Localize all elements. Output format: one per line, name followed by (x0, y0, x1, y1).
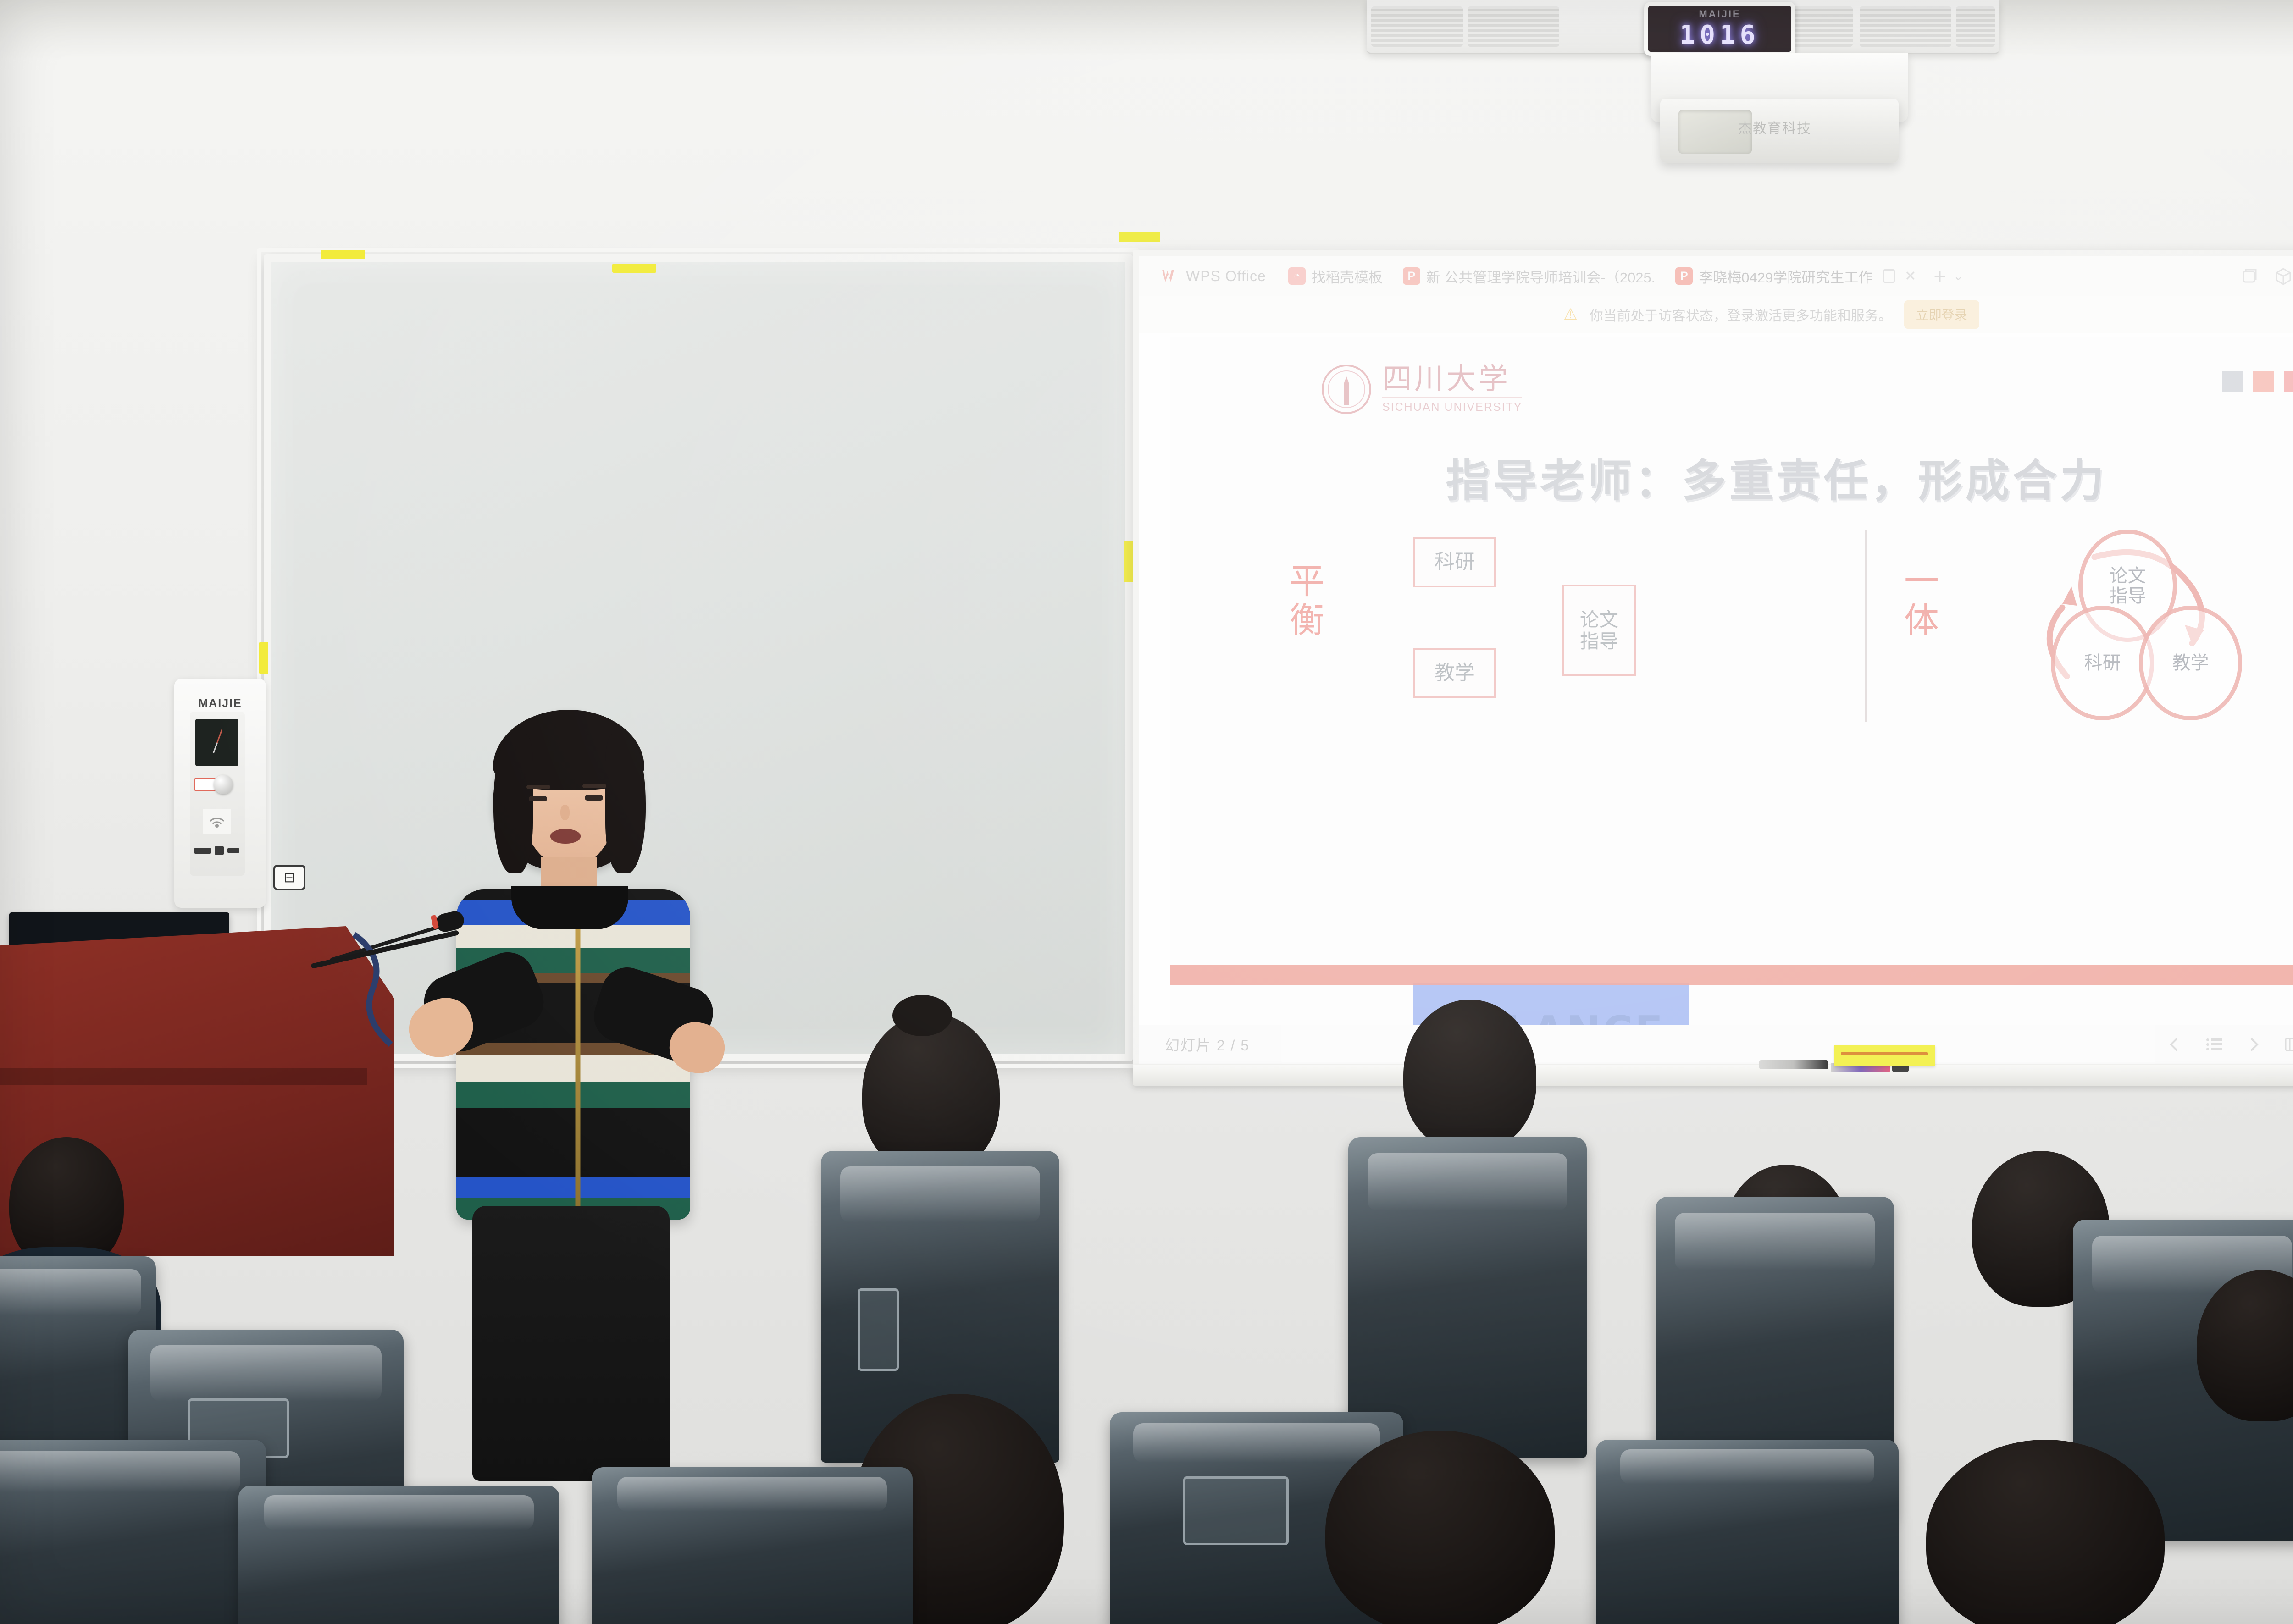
close-icon[interactable]: ✕ (1905, 268, 1916, 284)
presenter-nose (560, 805, 570, 820)
projection-screen: WPS Office ◔ 找稻壳模板 P 新 公共管理学院导师培训会-（2025… (1133, 250, 2293, 1071)
ppt-icon: P (1675, 267, 1693, 285)
presenter-eye (529, 796, 547, 801)
wps-tab-label: 李晓梅0429学院研究生工作 (1699, 266, 1872, 287)
ppt-icon: P (1403, 267, 1420, 285)
chevron-down-icon[interactable]: ⌄ (1953, 269, 1963, 283)
board-clip (1124, 541, 1134, 582)
seat (0, 1440, 266, 1624)
presenter-brow (526, 785, 550, 789)
audience-head (1403, 1000, 1536, 1151)
box-teaching: 教学 (1413, 648, 1496, 698)
swatch (2253, 371, 2274, 392)
slide-content: 四川大学 SICHUAN UNIVERSITY 指导老师：多重责任，形成合力 (1170, 337, 2293, 1025)
ceiling-clock: MAIJIE 1016 (1644, 2, 1795, 56)
slide-color-swatches (2222, 371, 2293, 392)
notice-login-button[interactable]: 立即登录 (1904, 300, 1979, 329)
circle-teaching: 教学 (2139, 606, 2242, 720)
box-thesis-guidance: 论文 指导 (1562, 585, 1636, 676)
wps-tab-ppt-2-active[interactable]: P 李晓梅0429学院研究生工作 ✕ (1665, 256, 1926, 296)
audience-head (1325, 1431, 1555, 1624)
university-name-cn: 四川大学 (1382, 365, 1522, 394)
swatch (2222, 371, 2243, 392)
window-icon[interactable] (2240, 267, 2259, 285)
sichuan-university-logo: 四川大学 SICHUAN UNIVERSITY (1322, 365, 1522, 414)
power-button[interactable]: ⊟ (273, 865, 305, 890)
swatch (2284, 371, 2293, 392)
wall-control-panel[interactable]: MAIJIE (174, 679, 266, 908)
board-clip (1119, 232, 1160, 242)
wps-logo-icon (1161, 268, 1180, 284)
right-panel-heading: 一体 (1904, 562, 1945, 640)
presenter-eye (585, 795, 603, 801)
presenter-mouth (550, 829, 581, 844)
guest-notice-text: 你当前处于访客状态，登录激活更多功能和服务。 (1590, 304, 1892, 325)
slide-title: 指导老师：多重责任，形成合力 (1170, 445, 2293, 509)
clock-time-display: 1016 (1680, 20, 1760, 50)
wps-app-name: WPS Office (1186, 268, 1266, 285)
panel-label-sticker (194, 778, 216, 791)
slide-left-panel: 平衡 科研 教学 论文 指导 BALANCE (1262, 525, 1854, 988)
left-panel-heading: 平衡 (1290, 562, 1331, 640)
warning-icon: ⚠ (1563, 305, 1577, 324)
classroom-scene: MAIJIE 1016 杰教育科技 WPS Office ◔ 找稻壳模板 (0, 0, 2293, 1624)
slide-right-panel: 一体 论文 指导 科研 教学 (1886, 525, 2293, 988)
panel-ports[interactable] (194, 845, 240, 856)
box-label-line-2: 指导 (1580, 630, 1618, 652)
seat-tablet-arm (1183, 1476, 1289, 1545)
wps-tab-bar: WPS Office ◔ 找稻壳模板 P 新 公共管理学院导师培训会-（2025… (1139, 256, 2293, 296)
guest-notice-bar: ⚠ 你当前处于访客状态，登录激活更多功能和服务。 立即登录 (1139, 296, 2293, 333)
wps-tab-label: 新 公共管理学院导师培训会-（2025. (1426, 266, 1656, 287)
box-label-line-1: 论文 (1580, 609, 1618, 630)
cube-icon[interactable] (2274, 267, 2293, 285)
board-clip (259, 642, 268, 674)
wps-tab-ppt-1[interactable]: P 新 公共管理学院导师培训会-（2025. (1393, 256, 1666, 296)
volume-knob[interactable] (214, 775, 233, 794)
presenter-hair-right (605, 734, 646, 873)
university-name-en: SICHUAN UNIVERSITY (1382, 397, 1522, 414)
wps-tab-label: 找稻壳模板 (1312, 266, 1383, 287)
audience-head (862, 1013, 1000, 1174)
wall-panel-brand-label: MAIJIE (174, 697, 266, 710)
wps-toolbar-right: 立即登录 (2240, 266, 2293, 286)
wps-logo: WPS Office (1149, 268, 1278, 285)
analog-clock-display-icon (195, 719, 238, 766)
presenter-zipper (576, 903, 581, 1206)
template-icon: ◔ (1288, 267, 1306, 285)
board-clip (612, 264, 656, 273)
presenter-collar (511, 886, 628, 929)
panel-divider (1865, 530, 1867, 722)
seat (592, 1467, 913, 1624)
slide-accent-bar (1170, 965, 2293, 985)
wps-office-window: WPS Office ◔ 找稻壳模板 P 新 公共管理学院导师培训会-（2025… (1139, 256, 2293, 1064)
circle-label-line-1: 论文 (2110, 566, 2146, 586)
tab-restore-icon[interactable] (1883, 269, 1895, 283)
clock-brand-label: MAIJIE (1699, 8, 1740, 20)
new-tab-button[interactable]: + (1926, 264, 1953, 288)
seat-tablet-arm (858, 1288, 899, 1371)
seat (1596, 1440, 1899, 1624)
wireless-signal-icon (203, 809, 231, 834)
board-clip (321, 250, 365, 259)
circle-label-line-2: 指导 (2110, 586, 2146, 606)
slide-canvas-area: 四川大学 SICHUAN UNIVERSITY 指导老师：多重责任，形成合力 (1139, 333, 2293, 1064)
box-research: 科研 (1413, 537, 1496, 587)
scu-seal-icon (1322, 365, 1371, 414)
audience-seating (0, 1000, 2293, 1624)
seat (238, 1486, 559, 1624)
wall-panel-face (190, 712, 245, 876)
seat (1348, 1137, 1587, 1458)
presenter-brow (582, 784, 606, 788)
wps-tab-template[interactable]: ◔ 找稻壳模板 (1278, 256, 1393, 296)
projector-brand-label: 杰教育科技 (1738, 117, 1811, 137)
presenter-hair-left (493, 734, 533, 873)
audience-hair-bun (892, 995, 952, 1036)
